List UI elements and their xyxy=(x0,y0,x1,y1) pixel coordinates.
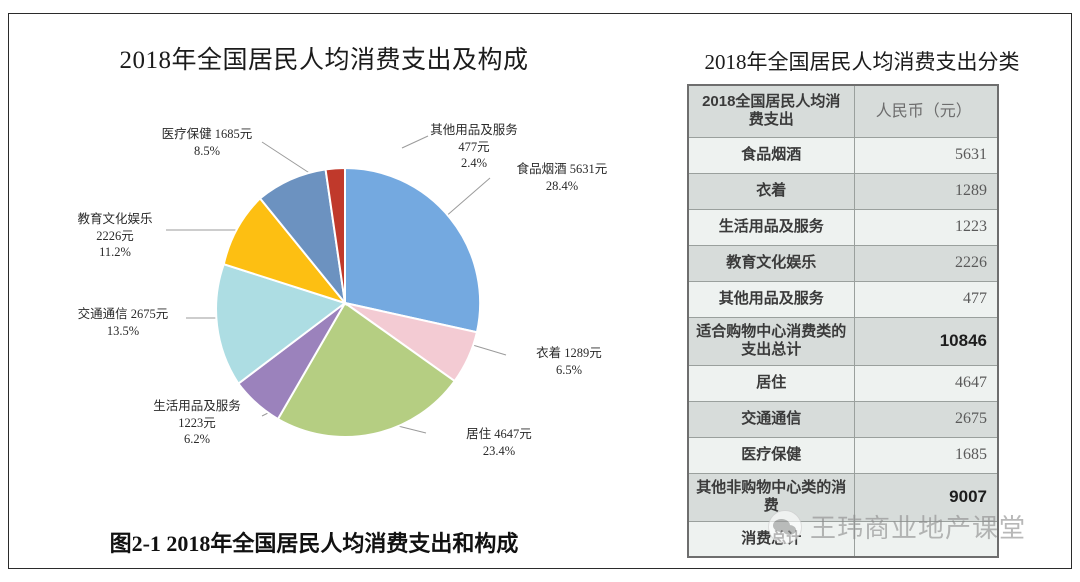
pie-label-line2: 13.5% xyxy=(48,323,198,340)
pie-label-shenghuoyongpin: 生活用品及服务 1223元 6.2% xyxy=(122,398,272,448)
table-row: 生活用品及服务 1223 xyxy=(688,209,998,245)
pie-svg xyxy=(14,18,662,566)
pie-label-line1: 其他用品及服务 xyxy=(409,122,539,139)
table-cell-category: 适合购物中心消费类的支出总计 xyxy=(688,317,854,365)
pie-label-line2: 23.4% xyxy=(434,443,564,460)
table-cell-value: 477 xyxy=(854,281,998,317)
table-row: 其他用品及服务 477 xyxy=(688,281,998,317)
table-cell-category: 医疗保健 xyxy=(688,437,854,473)
table-cell-value: 1223 xyxy=(854,209,998,245)
table-panel: 2018年全国居民人均消费支出分类 2018全国居民人均消费支出 人民币（元） … xyxy=(666,18,1066,566)
pie-label-jiaoyuwenhua: 教育文化娱乐 2226元 11.2% xyxy=(50,211,180,261)
table-cell-value: 9007 xyxy=(854,473,998,521)
pie-label-yiliaobaojian: 医疗保健 1685元 8.5% xyxy=(142,126,272,159)
table-cell-category: 其他非购物中心类的消费 xyxy=(688,473,854,521)
pie-label-jiaotongtongxin: 交通通信 2675元 13.5% xyxy=(48,306,198,339)
table-cell-value xyxy=(854,521,998,557)
pie-label-line3: 11.2% xyxy=(50,244,180,261)
table-cell-value: 5631 xyxy=(854,137,998,173)
pie-label-line2: 6.5% xyxy=(509,362,629,379)
table-row-subtotal: 其他非购物中心类的消费 9007 xyxy=(688,473,998,521)
table-row-total: 消费总计 xyxy=(688,521,998,557)
table-cell-value: 2226 xyxy=(854,245,998,281)
pie-label-line2: 28.4% xyxy=(492,178,632,195)
pie-label-line2: 1223元 xyxy=(122,415,272,432)
pie-label-line2: 8.5% xyxy=(142,143,272,160)
table-title: 2018年全国居民人均消费支出分类 xyxy=(666,46,1058,76)
pie-label-line2: 477元 xyxy=(409,139,539,156)
pie-label-line1: 教育文化娱乐 xyxy=(50,211,180,228)
table-row: 居住 4647 xyxy=(688,365,998,401)
table-cell-category: 其他用品及服务 xyxy=(688,281,854,317)
pie-chart-graphic: 医疗保健 1685元 8.5% 教育文化娱乐 2226元 11.2% 交通通信 … xyxy=(14,18,662,566)
table-cell-category: 生活用品及服务 xyxy=(688,209,854,245)
table-row: 衣着 1289 xyxy=(688,173,998,209)
pie-label-line1: 交通通信 2675元 xyxy=(48,306,198,323)
table-cell-value: 2675 xyxy=(854,401,998,437)
pie-label-line2: 2226元 xyxy=(50,228,180,245)
pie-label-shipinyanjiu: 食品烟酒 5631元 28.4% xyxy=(492,161,632,194)
table-cell-category: 教育文化娱乐 xyxy=(688,245,854,281)
pie-label-line1: 食品烟酒 5631元 xyxy=(492,161,632,178)
table-cell-value: 1289 xyxy=(854,173,998,209)
table-cell-category: 食品烟酒 xyxy=(688,137,854,173)
table-cell-value: 1685 xyxy=(854,437,998,473)
table-row: 医疗保健 1685 xyxy=(688,437,998,473)
table-cell-category: 交通通信 xyxy=(688,401,854,437)
pie-slices xyxy=(216,168,480,437)
table-row: 交通通信 2675 xyxy=(688,401,998,437)
table-row-subtotal: 适合购物中心消费类的支出总计 10846 xyxy=(688,317,998,365)
pie-label-line1: 居住 4647元 xyxy=(434,426,564,443)
table-header-row: 2018全国居民人均消费支出 人民币（元） xyxy=(688,85,998,137)
pie-chart-panel: 2018年全国居民人均消费支出及构成 xyxy=(14,18,662,566)
page-root: 2018年全国居民人均消费支出及构成 xyxy=(0,0,1080,582)
table-cell-value: 10846 xyxy=(854,317,998,365)
table-header-value: 人民币（元） xyxy=(854,85,998,137)
table-cell-category: 衣着 xyxy=(688,173,854,209)
pie-label-line3: 6.2% xyxy=(122,431,272,448)
table-row: 食品烟酒 5631 xyxy=(688,137,998,173)
pie-label-line1: 医疗保健 1685元 xyxy=(142,126,272,143)
figure-caption: 图2-1 2018年全国居民人均消费支出和构成 xyxy=(34,526,594,558)
pie-label-line1: 生活用品及服务 xyxy=(122,398,272,415)
table-row: 教育文化娱乐 2226 xyxy=(688,245,998,281)
pie-label-line1: 衣着 1289元 xyxy=(509,345,629,362)
table-header-category: 2018全国居民人均消费支出 xyxy=(688,85,854,137)
pie-label-yizhuo: 衣着 1289元 6.5% xyxy=(509,345,629,378)
table-cell-value: 4647 xyxy=(854,365,998,401)
pie-label-juzhu: 居住 4647元 23.4% xyxy=(434,426,564,459)
table-cell-category: 消费总计 xyxy=(688,521,854,557)
expenditure-table: 2018全国居民人均消费支出 人民币（元） 食品烟酒 5631 衣着 1289 … xyxy=(687,84,999,558)
table-cell-category: 居住 xyxy=(688,365,854,401)
